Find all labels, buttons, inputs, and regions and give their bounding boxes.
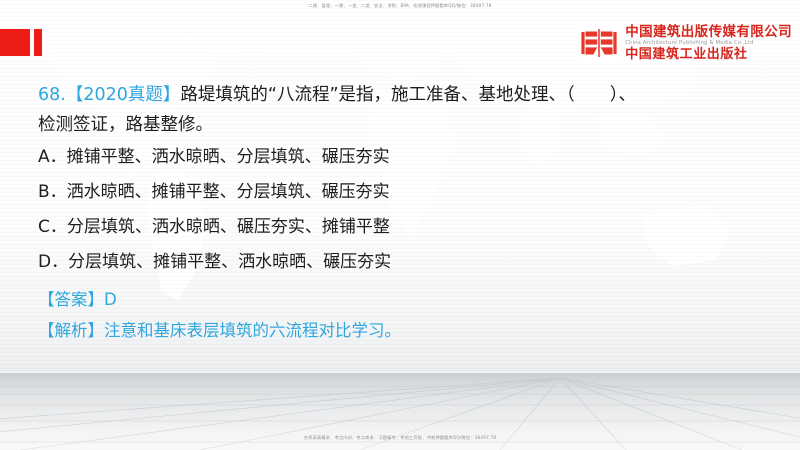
option-b[interactable]: B．洒水晾晒、摊铺平整、分层填筑、碾压夯实 <box>38 175 778 210</box>
analysis-label: 【解析】 <box>38 321 104 340</box>
option-d-letter: D． <box>38 252 68 272</box>
answer-value: D <box>104 290 117 309</box>
option-b-text: 洒水晾晒、摊铺平整、分层填筑、碾压夯实 <box>67 182 390 202</box>
question-body: 68.【2020真题】路堤填筑的“八流程”是指，施工准备、基地处理、（ ）、 检… <box>38 80 778 346</box>
red-accent-block-large <box>0 29 30 56</box>
publisher-logo-text: 中国建筑出版传媒有限公司 China Architecture Publishi… <box>625 25 792 62</box>
footer-watermark-text: 名师高清精讲、考点内训、考点串讲、习题精考、考前三页纸、冲刺押题题库QQ/微信：… <box>0 434 800 442</box>
option-b-letter: B． <box>38 182 67 202</box>
question-line-2: 检测签证，路基整修。 <box>38 110 778 140</box>
option-d[interactable]: D．分层填筑、摊铺平整、洒水晾晒、碾压夯实 <box>38 245 778 280</box>
slide-canvas: 二建、监理、一建、一造、二造、安全、消防、BIM、检测课程押题题库QQ/微信：3… <box>0 0 800 450</box>
option-a-text: 摊铺平整、洒水晾晒、分层填筑、碾压夯实 <box>67 147 390 167</box>
answer-label: 【答案】 <box>38 290 104 309</box>
analysis-text: 注意和基床表层填筑的六流程对比学习。 <box>104 321 401 340</box>
answer-line: 【答案】D <box>38 284 778 315</box>
option-c-letter: C． <box>38 217 67 237</box>
publisher-company-en: China Architecture Publishing & Media Co… <box>625 40 792 47</box>
analysis-line: 【解析】注意和基床表层填筑的六流程对比学习。 <box>38 315 778 346</box>
question-stem-part-1: 路堤填筑的“八流程”是指，施工准备、基地处理、（ ）、 <box>180 85 636 105</box>
question-stem-part-2: 检测签证，路基整修。 <box>38 115 213 135</box>
option-c[interactable]: C．分层填筑、洒水晾晒、碾压夯实、摊铺平整 <box>38 210 778 245</box>
question-number: 68. <box>38 85 66 105</box>
publisher-logo: 中国建筑出版传媒有限公司 China Architecture Publishi… <box>579 23 792 63</box>
publisher-press-cn: 中国建筑工业出版社 <box>625 47 792 62</box>
option-a-letter: A． <box>38 147 67 167</box>
option-c-text: 分层填筑、洒水晾晒、碾压夯实、摊铺平整 <box>67 217 390 237</box>
publisher-company-cn: 中国建筑出版传媒有限公司 <box>625 25 792 40</box>
open-book-logo-icon <box>579 23 619 63</box>
red-accent-block-small <box>34 29 42 56</box>
question-line-1: 68.【2020真题】路堤填筑的“八流程”是指，施工准备、基地处理、（ ）、 <box>38 80 778 110</box>
floor-horizon-line <box>0 372 800 373</box>
header-watermark-text: 二建、监理、一建、一造、二造、安全、消防、BIM、检测课程押题题库QQ/微信：3… <box>0 2 800 10</box>
question-source-tag: 【2020真题】 <box>66 85 181 105</box>
option-d-text: 分层填筑、摊铺平整、洒水晾晒、碾压夯实 <box>68 252 391 272</box>
option-a[interactable]: A．摊铺平整、洒水晾晒、分层填筑、碾压夯实 <box>38 140 778 175</box>
